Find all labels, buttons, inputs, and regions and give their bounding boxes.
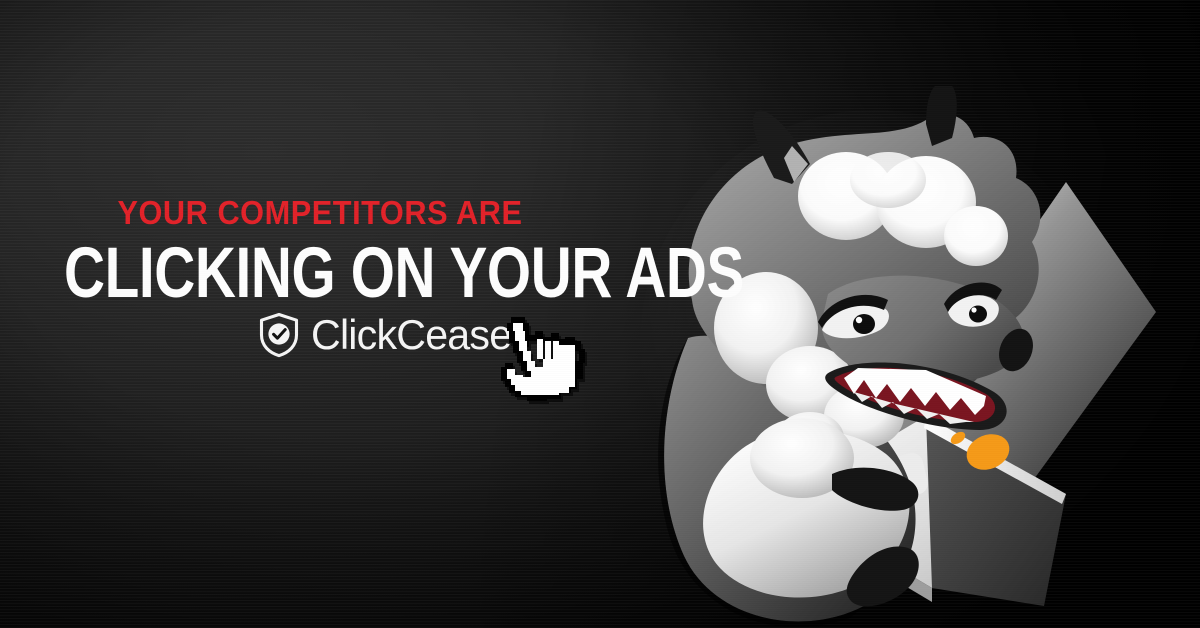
eyebrow-text: YOUR COMPETITORS ARE (22, 196, 617, 229)
shield-check-icon (258, 312, 300, 358)
clickcease-ad-banner: YOUR COMPETITORS ARE CLICKING ON YOUR AD… (0, 0, 1200, 628)
wolf-ear-right (926, 86, 957, 146)
headline-text: CLICKING ON YOUR ADS (64, 238, 576, 309)
clickcease-logo[interactable]: ClickCease (258, 312, 515, 358)
pixel-pointing-hand-cursor (497, 307, 593, 405)
angry-wolf-with-laptop-illustration (596, 86, 1156, 628)
headline-block: YOUR COMPETITORS ARE CLICKING ON YOUR AD… (0, 196, 640, 309)
clickcease-wordmark: ClickCease (311, 314, 511, 356)
